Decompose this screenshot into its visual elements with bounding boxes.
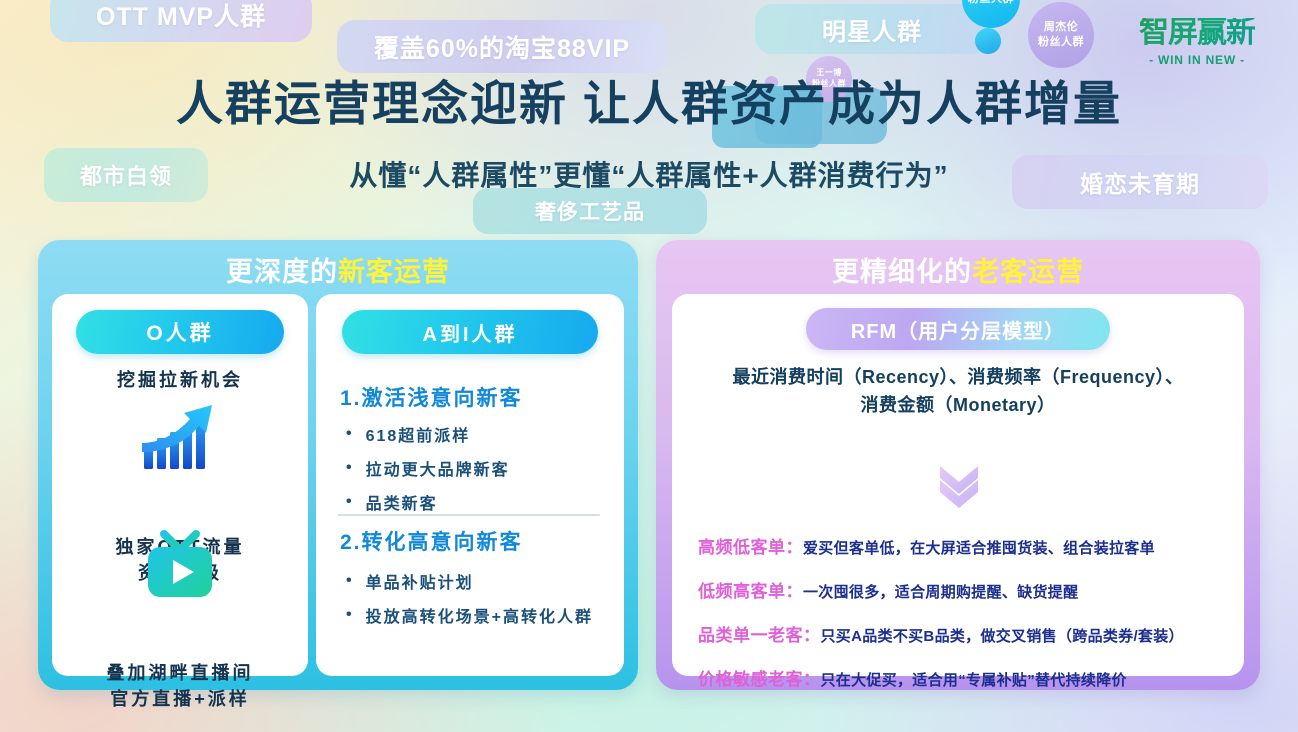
- ai-section-1-title: 1.激活浅意向新客: [340, 382, 523, 412]
- brand-logo-tagline: - WIN IN NEW -: [1149, 53, 1245, 67]
- pill-o-group-label: O人群: [146, 317, 213, 347]
- tag-luxury-craft: 奢侈工艺品: [473, 188, 707, 234]
- card-rfm: RFM（用户分层模型） 最近消费时间（Recency）、消费频率（Frequen…: [672, 294, 1244, 676]
- rfm-row: 品类单一老客： 只买A品类不买B品类，做交叉销售（跨品类券/套装）: [698, 621, 1238, 646]
- bubble-jay-chou-fans: 周杰伦 粉丝人群: [1028, 2, 1094, 68]
- rfm-description: 最近消费时间（Recency）、消费频率（Frequency）、 消费金额（Mo…: [672, 364, 1244, 420]
- rfm-description-line1: 最近消费时间（Recency）、消费频率（Frequency）、: [672, 364, 1244, 392]
- page-subtitle: 从懂“人群属性”更懂“人群属性+人群消费行为”: [349, 154, 948, 194]
- tag-ott-mvp-label: OTT MVP人群: [96, 0, 266, 33]
- tag-star-crowd: 明星人群: [755, 4, 989, 54]
- o-group-caption-3-line2: 官方直播+派样: [52, 686, 308, 712]
- pill-ai-group[interactable]: A到I人群: [342, 310, 598, 354]
- brand-logo: 智屏赢新 - WIN IN NEW -: [1118, 6, 1276, 78]
- o-group-caption-3: 叠加湖畔直播间 官方直播+派样: [52, 660, 308, 712]
- tag-ott-mvp: OTT MVP人群: [50, 0, 312, 42]
- bubble-jay-chou-fans-line1: 周杰伦: [1044, 20, 1079, 35]
- panel-new-customer-heading-highlight: 新客运营: [338, 250, 450, 289]
- rfm-row: 价格敏感老客： 只在大促买，适合用“专属补贴”替代持续降价: [698, 665, 1238, 690]
- bubble-fans-crowd-label: 粉丝人群: [968, 0, 1014, 6]
- tag-taobao88-label: 覆盖60%的淘宝88VIP: [374, 29, 630, 65]
- panel-new-customer: 更深度的新客运营 O人群 挖掘拉新机会: [38, 240, 638, 690]
- list-item: 投放高转化场景+高转化人群: [346, 603, 593, 627]
- list-item: 单品补贴计划: [346, 569, 474, 593]
- tv-play-icon: [144, 530, 216, 600]
- rfm-row: 高频低客单： 爱买但客单低，在大屏适合推囤货装、组合装拉客单: [698, 533, 1238, 558]
- rfm-description-line2: 消费金额（Monetary）: [672, 392, 1244, 420]
- panel-old-customer-heading-prefix: 更精细化的: [832, 250, 972, 289]
- pill-ai-group-label: A到I人群: [423, 318, 518, 347]
- rfm-row-label: 高频低客单：: [698, 533, 803, 558]
- pill-rfm-model[interactable]: RFM（用户分层模型）: [806, 308, 1110, 350]
- tag-luxury-craft-label: 奢侈工艺品: [535, 196, 645, 226]
- rfm-row-text: 爱买但客单低，在大屏适合推囤货装、组合装拉客单: [803, 537, 1155, 558]
- o-group-caption-1: 挖掘拉新机会: [52, 366, 308, 392]
- rfm-row-label: 价格敏感老客：: [698, 665, 821, 690]
- rfm-row: 低频高客单： 一次囤很多，适合周期购提醒、缺货提醒: [698, 577, 1238, 602]
- brand-logo-text: 智屏赢新: [1139, 18, 1255, 48]
- double-chevron-down-icon: [934, 464, 984, 510]
- panel-old-customer-heading-highlight: 老客运营: [972, 250, 1084, 289]
- page-title: 人群运营理念迎新 让人群资产成为人群增量: [176, 78, 1122, 130]
- list-item: 品类新客: [346, 490, 438, 514]
- pill-rfm-model-label: RFM（用户分层模型）: [851, 315, 1065, 344]
- list-item: 618超前派样: [346, 422, 470, 446]
- rfm-row-text: 只买A品类不买B品类，做交叉销售（跨品类券/套装）: [821, 625, 1184, 646]
- panel-old-customer: 更精细化的老客运营 RFM（用户分层模型） 最近消费时间（Recency）、消费…: [656, 240, 1260, 690]
- panel-new-customer-heading-prefix: 更深度的: [226, 250, 338, 289]
- card-o-group: O人群 挖掘拉新机会: [52, 294, 308, 676]
- rfm-row-label: 低频高客单：: [698, 577, 803, 602]
- ai-section-2-title: 2.转化高意向新客: [340, 526, 523, 556]
- decor-dot-small: [975, 28, 1001, 54]
- card-ai-group: A到I人群 1.激活浅意向新客 618超前派样 拉动更大品牌新客 品类新客 2.…: [316, 294, 624, 676]
- o-group-caption-3-line1: 叠加湖畔直播间: [52, 660, 308, 686]
- bubble-jay-chou-fans-line2: 粉丝人群: [1038, 35, 1084, 50]
- list-item: 拉动更大品牌新客: [346, 456, 510, 480]
- pill-o-group[interactable]: O人群: [76, 310, 284, 354]
- tag-star-crowd-label: 明星人群: [822, 12, 922, 47]
- page-subtitle-row: 从懂“人群属性”更懂“人群属性+人群消费行为”: [0, 154, 1298, 194]
- slide-canvas: OTT MVP人群 覆盖60%的淘宝88VIP 明星人群 都市白领 奢侈工艺品 …: [0, 0, 1298, 732]
- bar-chart-growth-icon: [140, 399, 220, 471]
- panel-new-customer-heading: 更深度的新客运营: [38, 240, 638, 288]
- rfm-row-label: 品类单一老客：: [698, 621, 821, 646]
- rfm-row-text: 只在大促买，适合用“专属补贴”替代持续降价: [821, 669, 1127, 690]
- page-title-row: 人群运营理念迎新 让人群资产成为人群增量: [0, 78, 1298, 130]
- rfm-row-text: 一次囤很多，适合周期购提醒、缺货提醒: [803, 581, 1078, 602]
- section-divider: [338, 514, 600, 516]
- panel-old-customer-heading: 更精细化的老客运营: [656, 240, 1260, 288]
- tag-taobao88: 覆盖60%的淘宝88VIP: [337, 20, 667, 73]
